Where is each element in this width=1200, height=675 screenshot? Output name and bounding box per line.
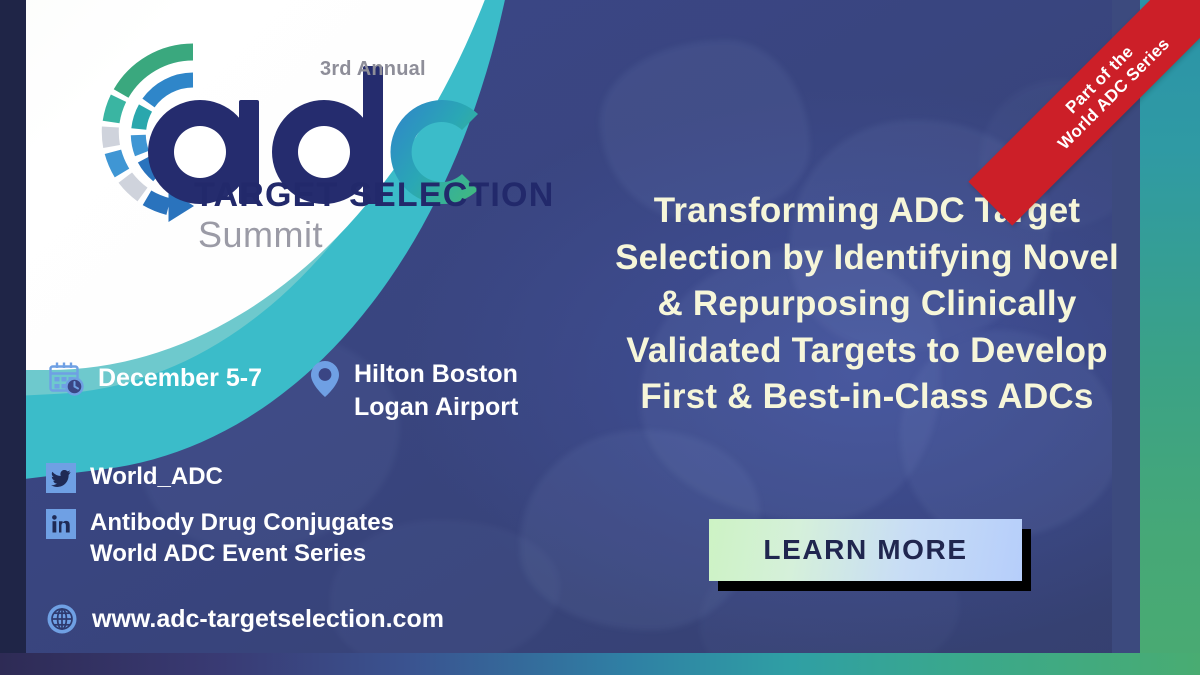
bottom-gradient-bar: [0, 653, 1200, 675]
logo-target-selection-label: TARGET SELECTION: [194, 176, 554, 215]
event-details: December 5-7 Hilton Boston Logan Airport: [46, 358, 518, 635]
twitter-row[interactable]: World_ADC: [46, 461, 518, 493]
calendar-clock-icon: [46, 358, 86, 398]
twitter-handle-label: World_ADC: [90, 461, 223, 492]
logo-annual-label: 3rd Annual: [320, 58, 426, 81]
date-venue-row: December 5-7 Hilton Boston Logan Airport: [46, 358, 518, 423]
event-date-label: December 5-7: [98, 362, 262, 395]
twitter-icon[interactable]: [46, 463, 76, 493]
left-edge-bar: [0, 0, 26, 675]
linkedin-row[interactable]: Antibody Drug Conjugates World ADC Event…: [46, 507, 518, 569]
learn-more-button[interactable]: LEARN MORE: [709, 519, 1022, 581]
linkedin-page-label: Antibody Drug Conjugates World ADC Event…: [90, 507, 394, 569]
event-venue-label: Hilton Boston Logan Airport: [354, 358, 518, 423]
event-promo-banner: 3rd Annual TARGET SELECTION Summit Part …: [0, 0, 1200, 675]
linkedin-icon[interactable]: [46, 509, 76, 539]
right-edge-gradient-bar: [1140, 0, 1200, 675]
event-venue: Hilton Boston Logan Airport: [308, 358, 518, 423]
learn-more-cta: LEARN MORE: [709, 519, 1022, 581]
social-links: World_ADC Antibody Drug Conjugates World…: [46, 461, 518, 635]
event-date: December 5-7: [46, 358, 308, 398]
logo-summit-label: Summit: [198, 214, 323, 256]
website-url-label: www.adc-targetselection.com: [92, 605, 444, 634]
map-pin-icon: [308, 358, 342, 400]
globe-icon[interactable]: [46, 603, 78, 635]
website-row[interactable]: www.adc-targetselection.com: [46, 603, 518, 635]
headline: Transforming ADC Target Selection by Ide…: [612, 188, 1122, 421]
